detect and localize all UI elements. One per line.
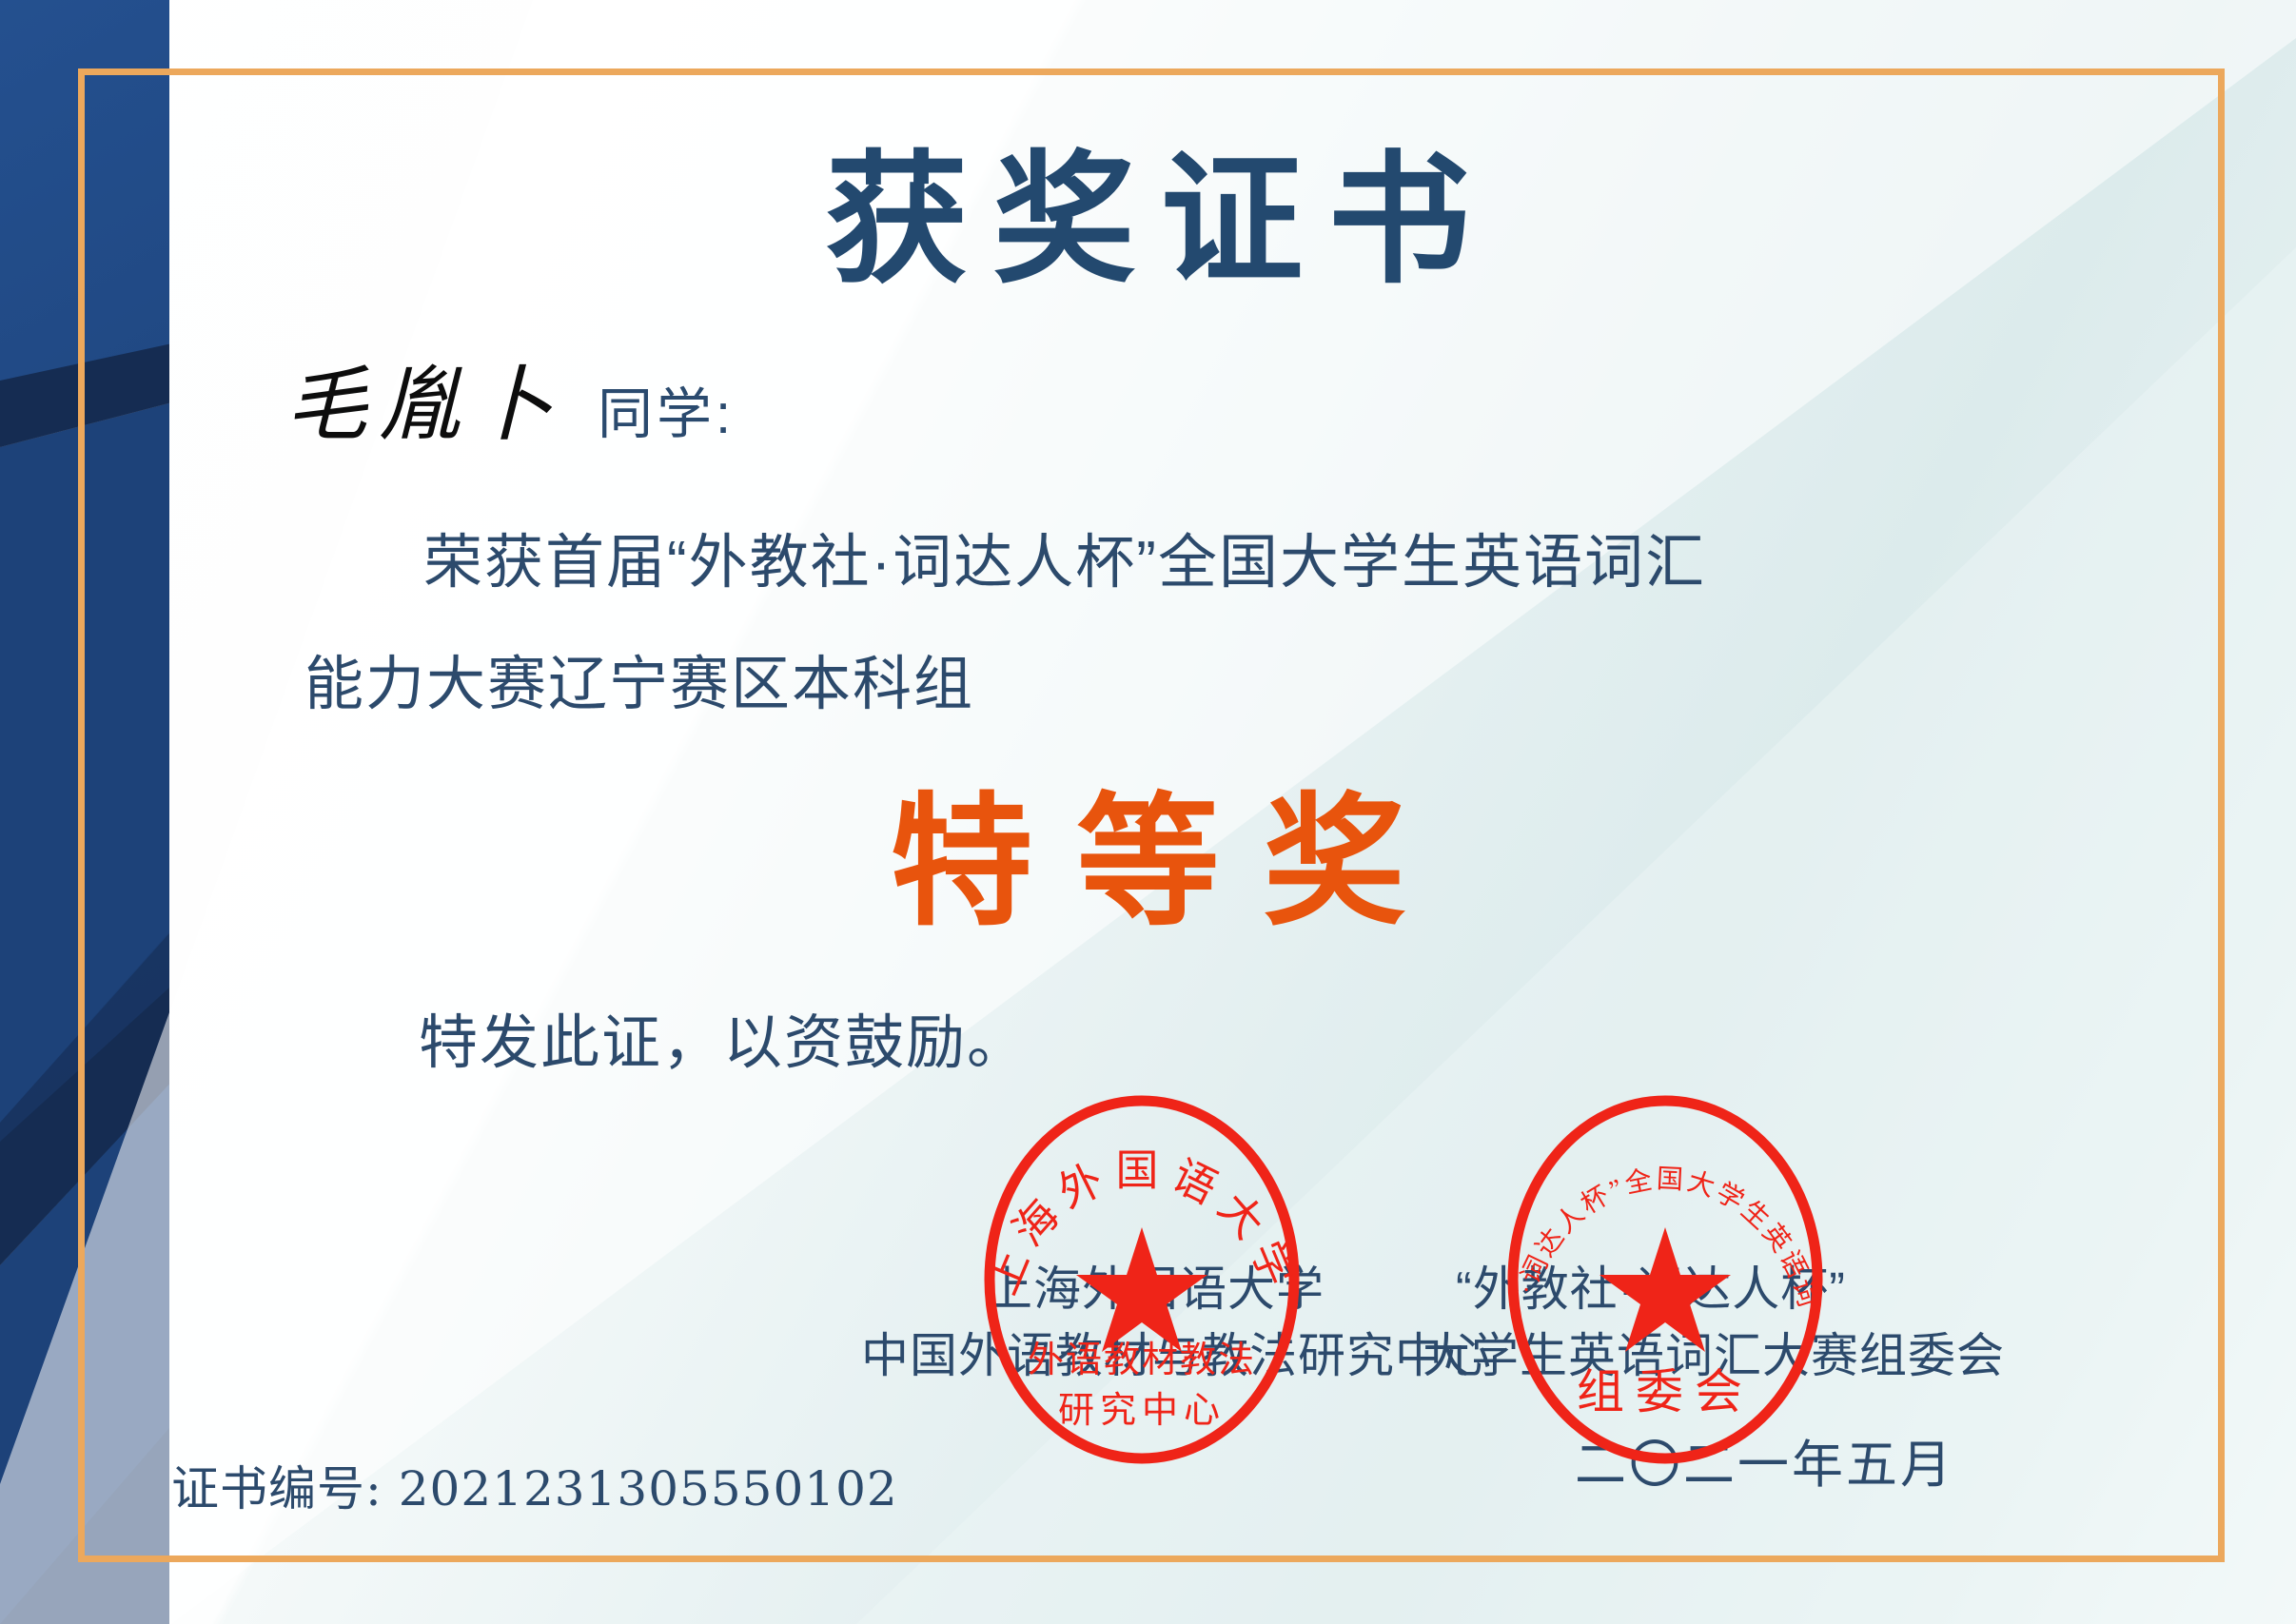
- body-line-1: 荣获首届“外教社·词达人杯”全国大学生英语词汇: [423, 514, 1706, 599]
- recipient-suffix-label: 同学:: [598, 369, 735, 449]
- award-level: 特等奖: [0, 747, 2296, 953]
- closing-statement: 特发此证，以资鼓励。: [419, 994, 1028, 1080]
- seal-right-star: [1599, 1227, 1731, 1352]
- seal-left: 上海外国语大学 外语教材教法 研究中心: [961, 1094, 1323, 1465]
- recipient-name: 毛胤卜: [285, 338, 565, 457]
- recipient-row: 毛胤卜 同学:: [285, 338, 735, 457]
- certificate-root: 获奖证书 毛胤卜 同学: 荣获首届“外教社·词达人杯”全国大学生英语词汇 能力大…: [0, 0, 2296, 1624]
- seal-right-bottom-text: 组委会: [1577, 1365, 1754, 1419]
- body-line-2: 能力大赛辽宁赛区本科组: [304, 636, 974, 721]
- seal-left-star: [1076, 1227, 1207, 1352]
- certificate-number: 证书编号: 2021231305550102: [171, 1451, 898, 1519]
- seal-left-mid-text: 外语教材教法: [1028, 1340, 1256, 1380]
- seal-left-bottom-text: 研究中心: [1058, 1391, 1226, 1431]
- seal-right: “外教社·词达人杯”全国大学生英语词汇大赛 组委会: [1484, 1094, 1846, 1465]
- page-title: 获奖证书: [0, 105, 2296, 311]
